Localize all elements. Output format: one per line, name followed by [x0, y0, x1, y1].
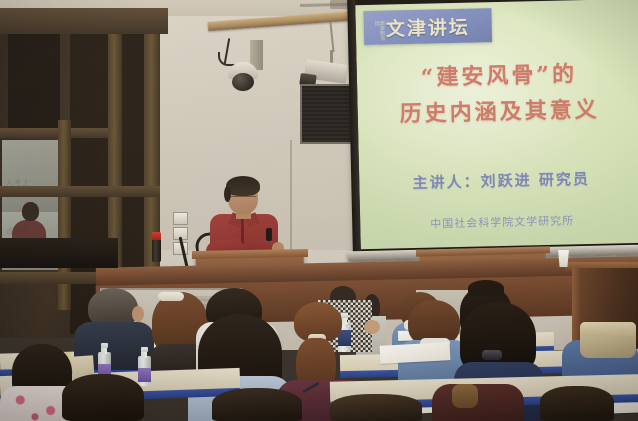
lecture-hall-photo: 文津讲坛 国家图书馆 “建安风骨”的 历史内涵及其意义 主讲人：刘跃进 研究员 … [0, 0, 638, 421]
slide-title-line-2: 历史内涵及其意义 [357, 91, 638, 129]
dark-equipment [0, 238, 118, 268]
presenter-hair [226, 176, 260, 196]
hair [212, 388, 302, 421]
hair [330, 394, 422, 421]
handbag-flap [580, 322, 636, 336]
paper-sheet [380, 342, 451, 364]
wood-panel [8, 34, 60, 130]
bottle-cap [101, 343, 108, 348]
presenter-shirt-placket [241, 218, 244, 244]
hair-clip [482, 350, 502, 360]
bottle-cap [141, 347, 148, 352]
bottle-neck [141, 351, 147, 358]
presenter-glasses-icon [229, 196, 256, 203]
reflected-person-head [22, 202, 39, 221]
dome-camera-lens-icon [232, 73, 254, 91]
slide-banner-title: 文津讲坛 [385, 12, 470, 41]
bottle-neck [101, 347, 107, 354]
red-cap-bottle [152, 238, 161, 262]
hand [364, 320, 380, 334]
microphone-clip-icon [266, 228, 272, 241]
light-switch-plate[interactable] [173, 212, 188, 225]
hair-top [468, 280, 504, 296]
red-bottle-cap [152, 232, 161, 240]
torso [432, 384, 524, 421]
slide-banner: 文津讲坛 国家图书馆 [363, 8, 492, 45]
wood-header-beam [0, 8, 168, 34]
wood-beam-horizontal [0, 186, 160, 197]
hair [540, 386, 614, 421]
projection-screen: 文津讲坛 国家图书馆 “建安风骨”的 历史内涵及其意义 主讲人：刘跃进 研究员 … [355, 0, 638, 249]
slide-title-line-1: “建安风骨”的 [357, 55, 638, 93]
hair-strand [452, 384, 478, 408]
hair-clip [158, 292, 184, 301]
ear [132, 306, 144, 322]
slide-banner-side-text: 国家图书馆 [374, 21, 385, 45]
bottle-cap [341, 313, 348, 318]
bottle-label [138, 368, 151, 382]
hair [62, 374, 144, 421]
